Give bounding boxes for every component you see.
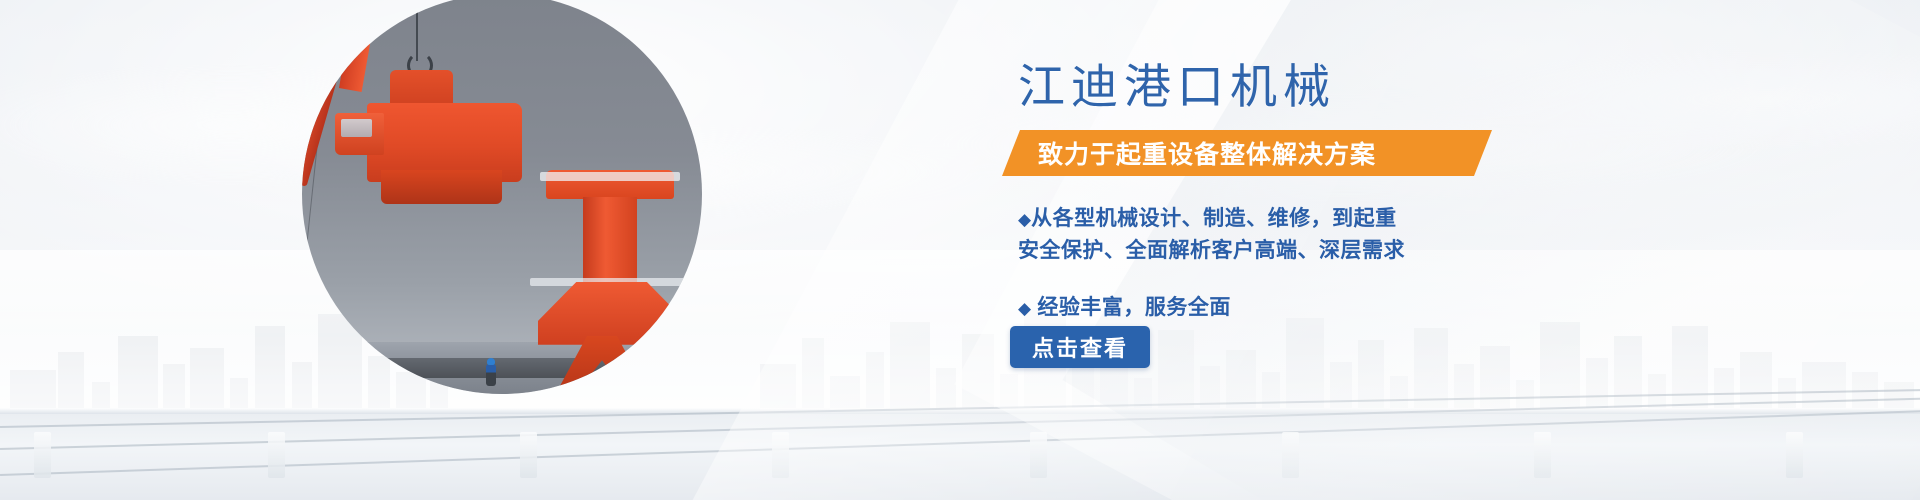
feature-list-spacer xyxy=(1018,266,1538,292)
worker-figure xyxy=(486,364,496,386)
feature-item-2: 安全保护、全面解析客户高端、深层需求 xyxy=(1018,235,1538,266)
banner-content: 江迪港口机械 致力于起重设备整体解决方案 ◆从各型机械设计、制造、维修，到起重 … xyxy=(1018,0,1878,500)
feature-item-1-label: 从各型机械设计、制造、维修，到起重 xyxy=(1031,207,1397,230)
diamond-icon: ◆ xyxy=(1018,299,1031,318)
feature-item-1: ◆从各型机械设计、制造、维修，到起重 xyxy=(1018,203,1538,235)
feature-list: ◆从各型机械设计、制造、维修，到起重 安全保护、全面解析客户高端、深层需求 ◆ … xyxy=(1018,203,1538,324)
crane-right xyxy=(530,170,690,394)
diamond-icon: ◆ xyxy=(1018,210,1031,229)
view-details-button-label: 点击查看 xyxy=(1032,331,1128,363)
tagline-ribbon: 致力于起重设备整体解决方案 xyxy=(1002,130,1492,176)
port-crane-photo xyxy=(302,0,702,394)
feature-item-2-label: 安全保护、全面解析客户高端、深层需求 xyxy=(1018,239,1405,262)
page-title: 江迪港口机械 xyxy=(1018,63,1336,110)
hero-banner: 江迪港口机械 致力于起重设备整体解决方案 ◆从各型机械设计、制造、维修，到起重 … xyxy=(0,0,1920,500)
feature-item-3: ◆ 经验丰富，服务全面 xyxy=(1018,292,1538,324)
view-details-button[interactable]: 点击查看 xyxy=(1010,326,1150,368)
tagline-text: 致力于起重设备整体解决方案 xyxy=(1038,135,1376,171)
feature-item-3-label: 经验丰富，服务全面 xyxy=(1031,296,1231,319)
